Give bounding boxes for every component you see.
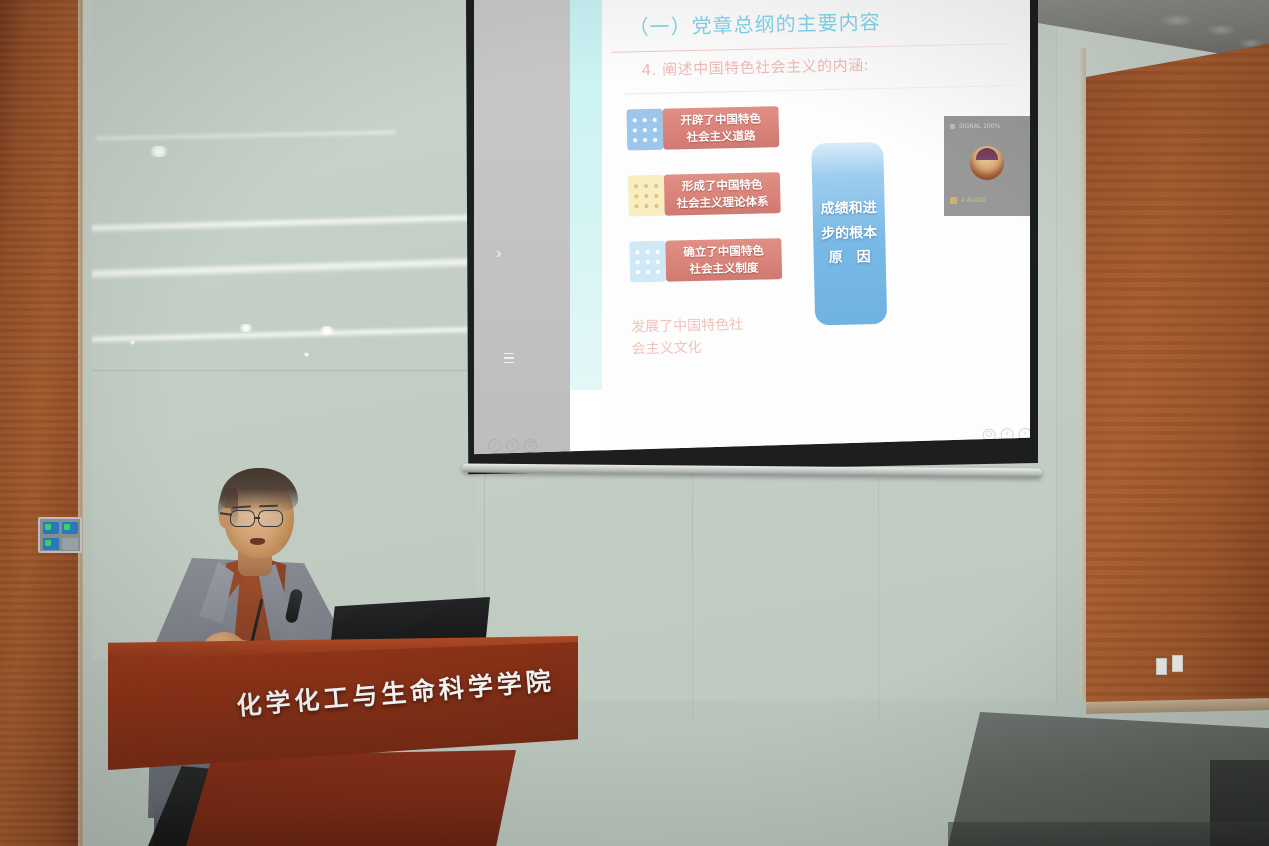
wood-wall-right xyxy=(1086,44,1269,704)
ceiling-vent-a xyxy=(1160,14,1194,27)
slide-title-rule xyxy=(611,43,1011,53)
webcam-avatar xyxy=(970,146,1004,180)
slide-row-1-pill: 开辟了中国特色 社会主义道路 xyxy=(662,106,779,150)
slide-row-2-pill: 形成了中国特色 社会主义理论体系 xyxy=(664,172,781,216)
speaker-mouth xyxy=(250,538,265,545)
projection-screen-bottom-bar xyxy=(462,463,1042,477)
slide-row-2-icon-chip xyxy=(628,175,665,217)
slide-row-1-line2: 社会主义道路 xyxy=(686,127,755,145)
slide-subtitle-rule xyxy=(624,85,1014,95)
slide-menu-icon[interactable] xyxy=(504,353,514,366)
projection-screen-surface: › ‹ › ⊙ （一）党章总纲的主要内容 4. 阐述中国特色社会主义的内涵: xyxy=(474,0,1030,456)
video-overlay-header: SIGNAL 100% xyxy=(950,123,1000,130)
lighting-control-panel[interactable] xyxy=(38,517,82,553)
slide-row-3-line2: 社会主义制度 xyxy=(689,259,758,277)
slide-row-1-icon-chip xyxy=(626,109,663,151)
projected-gray-margin: › ‹ › ⊙ xyxy=(474,0,570,456)
slide-row-3-pill: 确立了中国特色 社会主义制度 xyxy=(665,238,782,282)
ppt-nav-pen-icon[interactable]: ⊙ xyxy=(524,439,537,452)
slide-footer-text: 发展了中国特色社 会主义文化 xyxy=(631,315,744,361)
glass-seam-4 xyxy=(1056,0,1057,700)
wood-column-seam xyxy=(0,356,82,357)
ceiling-light-reflection-b xyxy=(318,326,336,335)
stage-front-edge xyxy=(948,822,1269,846)
slide-blue-callout-card: 成绩和进 步的根本 原 因 xyxy=(811,142,887,326)
ceiling-vent-b xyxy=(1206,24,1236,36)
video-overlay-panel: SIGNAL 100% 4 AUDIO xyxy=(944,116,1030,216)
blue-card-line3: 原 因 xyxy=(828,245,871,270)
slide-row-3-icon-chip xyxy=(629,241,666,283)
lecture-hall-photo: › ‹ › ⊙ （一）党章总纲的主要内容 4. 阐述中国特色社会主义的内涵: xyxy=(0,0,1269,846)
glass-seam-horizontal xyxy=(92,370,484,371)
blue-card-line1: 成绩和进 xyxy=(820,196,877,222)
slide-subtitle: 4. 阐述中国特色社会主义的内涵: xyxy=(641,54,869,80)
wood-column-left xyxy=(0,0,82,846)
slide-next-chevron-icon[interactable]: › xyxy=(496,245,501,263)
glasses-lens-left xyxy=(230,510,255,527)
video-overlay-footer-label: 4 AUDIO xyxy=(961,197,986,204)
slide-row-3-line1: 确立了中国特色 xyxy=(683,243,764,261)
wood-wall-right-edge xyxy=(1080,48,1086,700)
slide-accent-band xyxy=(570,0,602,390)
slide-title: （一）党章总纲的主要内容 xyxy=(628,6,881,40)
slide-row-2-line2: 社会主义理论体系 xyxy=(676,193,768,212)
audio-icon xyxy=(950,197,957,204)
panel-indicator-green-2 xyxy=(64,524,70,530)
panel-indicator-green-1 xyxy=(45,524,51,530)
ceiling-light-reflection-a xyxy=(148,146,170,157)
slide-row-1-line1: 开辟了中国特色 xyxy=(680,111,761,129)
glasses-lens-right xyxy=(258,510,283,527)
video-overlay-header-label: SIGNAL 100% xyxy=(959,123,1000,130)
slide-row-2: 形成了中国特色 社会主义理论体系 xyxy=(628,172,781,217)
wall-sign-small-left xyxy=(1156,658,1167,675)
ppt-nav-left[interactable]: ‹ › ⊙ xyxy=(488,439,537,452)
slide-row-1: 开辟了中国特色 社会主义道路 xyxy=(626,106,779,151)
slide-footer-line1: 发展了中国特色社 xyxy=(631,315,743,339)
ppt-nav-prev-icon[interactable]: ‹ xyxy=(488,439,501,452)
ceiling-light-reflection-e xyxy=(304,352,309,357)
podium-base xyxy=(186,750,516,846)
video-overlay-footer: 4 AUDIO xyxy=(950,197,986,204)
slide-footer-line2: 会主义文化 xyxy=(631,337,743,361)
glasses-bridge xyxy=(254,517,260,519)
ceiling-light-reflection-c xyxy=(238,324,254,332)
slide-row-2-line1: 形成了中国特色 xyxy=(682,177,763,195)
panel-indicator-green-3 xyxy=(45,540,51,546)
wall-sign-small-right xyxy=(1172,655,1183,672)
blue-card-line2: 步的根本 xyxy=(821,221,878,247)
signal-icon xyxy=(950,124,955,129)
slide-row-3: 确立了中国特色 社会主义制度 xyxy=(629,238,782,283)
ppt-nav-next-icon[interactable]: › xyxy=(506,439,519,452)
podium: 化学化工与生命科学学院 xyxy=(108,600,578,846)
slide-content: （一）党章总纲的主要内容 4. 阐述中国特色社会主义的内涵: 开辟了中国特色 社… xyxy=(602,0,1030,456)
projection-screen: › ‹ › ⊙ （一）党章总纲的主要内容 4. 阐述中国特色社会主义的内涵: xyxy=(466,0,1038,490)
ceiling-light-reflection-d xyxy=(130,340,135,345)
wood-column-left-edge xyxy=(78,0,83,846)
